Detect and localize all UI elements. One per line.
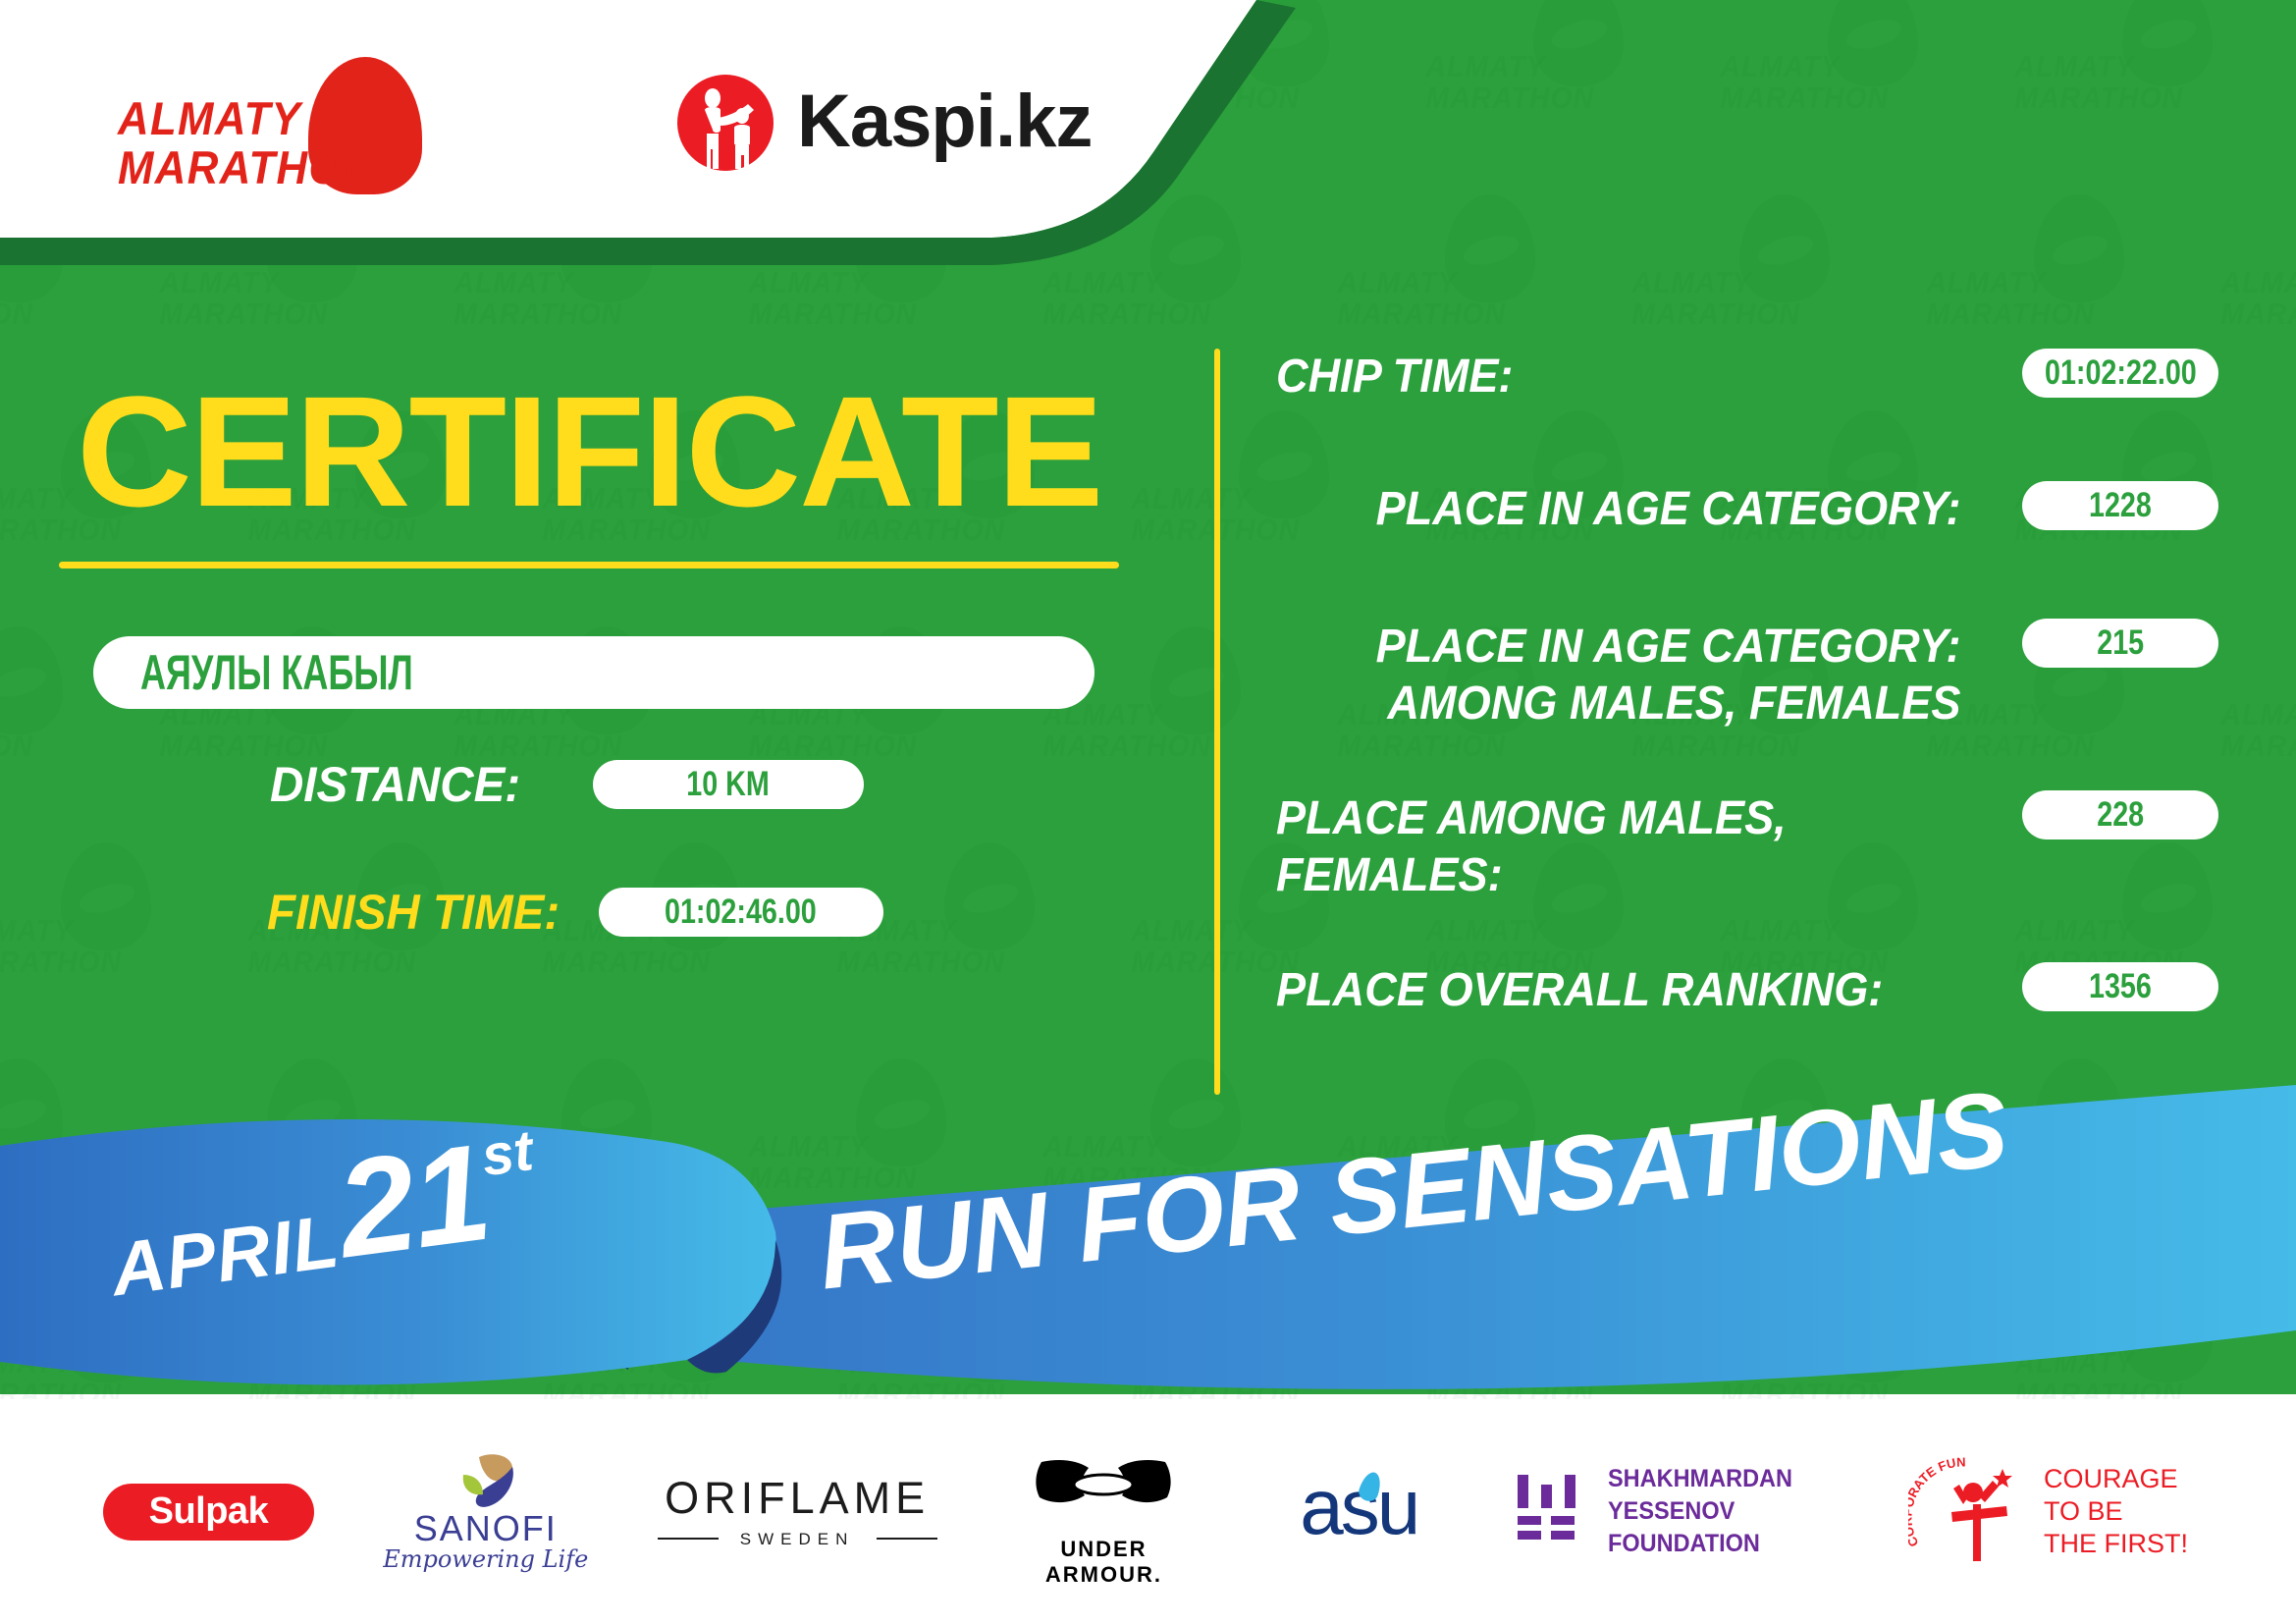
chip-time-label: CHIP TIME:	[1276, 349, 1960, 406]
watermark-tile: ALMATYMARATHON	[2209, 177, 2296, 393]
watermark-tile: ALMATYMARATHON	[0, 825, 236, 1041]
yessenov-mark-icon	[1516, 1473, 1586, 1551]
courage-line3: THE FIRST!	[2044, 1529, 2188, 1558]
yessenov-line1: SHAKHMARDAN YESSENOV	[1608, 1465, 1792, 1525]
finish-time-value: 01:02:46.00	[665, 893, 817, 932]
page-title: CERTIFICATE	[77, 373, 1101, 530]
yessenov-logo: SHAKHMARDAN YESSENOV FOUNDATION	[1516, 1463, 1840, 1561]
sulpak-logo: Sulpak	[103, 1484, 314, 1541]
distance-label: DISTANCE:	[270, 756, 520, 813]
place-gender-value: 228	[2097, 795, 2144, 835]
sponsor-sulpak: Sulpak	[103, 1484, 314, 1541]
sponsor-under-armour: UNDER ARMOUR.	[1005, 1458, 1201, 1566]
yessenov-line2: FOUNDATION	[1608, 1530, 1760, 1557]
courage-mark-icon: CORPORATE FUND	[1908, 1455, 2036, 1568]
asu-wordmark: asu	[1270, 1468, 1447, 1546]
finish-time-value-pill: 01:02:46.00	[599, 888, 883, 937]
kaspi-logo: Kaspi.kz	[677, 67, 1090, 175]
place-gender-label-line1: PLACE AMONG MALES,	[1276, 792, 1787, 844]
under-armour-logo: UNDER ARMOUR.	[1005, 1458, 1201, 1566]
place-gender-value-pill: 228	[2022, 790, 2218, 839]
courage-logo: CORPORATE FUND COURAGE TO BE THE FIRST!	[1908, 1455, 2193, 1568]
kaspi-wordmark: Kaspi.kz	[797, 79, 1092, 164]
overall-ranking-value: 1356	[2089, 967, 2152, 1006]
age-category-gender-label: PLACE IN AGE CATEGORY: AMONG MALES, FEMA…	[1276, 619, 1960, 732]
certificate-canvas: ALMATYMARATHONALMATYMARATHONALMATYMARATH…	[0, 0, 2296, 1624]
courage-line2: TO BE	[2044, 1496, 2123, 1526]
finish-time-row: FINISH TIME: 01:02:46.00	[267, 884, 883, 941]
oriflame-subtitle: SWEDEN	[658, 1530, 937, 1549]
sanofi-wordmark: SANOFI	[383, 1508, 589, 1549]
watermark-text: ALMATYMARATHON	[1042, 699, 1232, 762]
sponsor-sanofi: SANOFI Empowering Life	[383, 1453, 589, 1571]
watermark-text: ALMATYMARATHON	[2014, 51, 2204, 114]
result-row-place-gender: PLACE AMONG MALES, FEMALES: 228	[1276, 790, 2218, 904]
event-ribbon: APRIL 21st RUN FOR SENSATIONS	[0, 1085, 2296, 1389]
age-category-value-pill: 1228	[2022, 481, 2218, 530]
watermark-text: ALMATYMARATHON	[1631, 267, 1821, 330]
distance-row: DISTANCE: 10 KM	[270, 756, 864, 813]
result-row-age-category-gender: PLACE IN AGE CATEGORY: AMONG MALES, FEMA…	[1276, 619, 2218, 732]
age-category-gender-label-line1: PLACE IN AGE CATEGORY:	[1376, 621, 1961, 673]
chip-time-value: 01:02:22.00	[2045, 353, 2197, 393]
watermark-tile: ALMATYMARATHON	[1414, 0, 1708, 177]
participant-name-field: АЯУЛЫ КАБЫЛ	[93, 636, 1095, 709]
watermark-text: ALMATYMARATHON	[2220, 699, 2296, 762]
distance-value: 10 KM	[686, 765, 770, 804]
oriflame-logo: ORIFLAME SWEDEN	[658, 1473, 937, 1551]
result-row-overall: PLACE OVERALL RANKING: 1356	[1276, 962, 2218, 1019]
oriflame-wordmark: ORIFLAME	[658, 1473, 937, 1524]
watermark-text: ALMATYMARATHON	[1425, 51, 1615, 114]
watermark-tile: ALMATYMARATHON	[2002, 0, 2296, 177]
participant-name-value: АЯУЛЫ КАБЫЛ	[140, 644, 413, 701]
result-row-age-category: PLACE IN AGE CATEGORY: 1228	[1276, 481, 2218, 538]
sanofi-mark-icon	[450, 1453, 518, 1508]
watermark-text: ALMATYMARATHON	[1926, 267, 2115, 330]
sanofi-logo: SANOFI Empowering Life	[383, 1453, 589, 1571]
event-day-ordinal: st	[478, 1118, 537, 1188]
watermark-tile: ALMATYMARATHON	[2209, 609, 2296, 825]
event-day: 21	[329, 1114, 497, 1286]
watermark-text: ALMATYMARATHON	[2220, 267, 2296, 330]
place-gender-label-line2: FEMALES:	[1276, 849, 1503, 901]
age-category-gender-value-pill: 215	[2022, 619, 2218, 668]
age-category-gender-value: 215	[2097, 623, 2144, 663]
svg-text:CORPORATE FUND: CORPORATE FUND	[1908, 1455, 1966, 1549]
result-row-chip-time: CHIP TIME: 01:02:22.00	[1276, 349, 2218, 406]
under-armour-wordmark: UNDER ARMOUR.	[1005, 1537, 1201, 1588]
almaty-line2: MARATHON	[118, 141, 376, 193]
watermark-text: ALMATYMARATHON	[1337, 267, 1526, 330]
age-category-label: PLACE IN AGE CATEGORY:	[1276, 481, 1960, 538]
header-panel: ALMATY MARATHON Kaspi.kz	[0, 0, 1306, 287]
under-armour-mark-icon	[1030, 1458, 1177, 1532]
sponsor-oriflame: ORIFLAME SWEDEN	[658, 1473, 937, 1551]
watermark-text: ALMATYMARATHON	[0, 699, 55, 762]
overall-ranking-value-pill: 1356	[2022, 962, 2218, 1011]
overall-ranking-label: PLACE OVERALL RANKING:	[1276, 962, 1960, 1019]
place-gender-label: PLACE AMONG MALES, FEMALES:	[1276, 790, 1960, 904]
title-divider	[59, 562, 1119, 568]
finish-time-label: FINISH TIME:	[267, 884, 560, 941]
almaty-marathon-logo: ALMATY MARATHON	[118, 57, 442, 214]
yessenov-wordmark: SHAKHMARDAN YESSENOV FOUNDATION	[1608, 1463, 1826, 1560]
courage-wordmark: COURAGE TO BE THE FIRST!	[2044, 1463, 2188, 1560]
sponsor-bar: Sulpak SANOFI Empowering Life ORIFLAME S…	[0, 1399, 2296, 1624]
sponsor-asu: asu	[1270, 1468, 1447, 1556]
asu-logo: asu	[1270, 1468, 1447, 1556]
almaty-line1: ALMATY	[118, 92, 301, 144]
watermark-tile: ALMATYMARATHON	[1708, 0, 2002, 177]
kaspi-people-glyph	[677, 75, 774, 171]
courage-line1: COURAGE	[2044, 1464, 2178, 1493]
sponsor-courage: CORPORATE FUND COURAGE TO BE THE FIRST!	[1908, 1455, 2193, 1568]
distance-value-pill: 10 KM	[593, 760, 864, 809]
age-category-value: 1228	[2089, 486, 2152, 525]
sponsor-yessenov: SHAKHMARDAN YESSENOV FOUNDATION	[1516, 1463, 1840, 1561]
almaty-marathon-wordmark: ALMATY MARATHON	[118, 94, 376, 192]
chip-time-value-pill: 01:02:22.00	[2022, 349, 2218, 398]
column-divider	[1214, 349, 1220, 1095]
oriflame-rule-right	[877, 1538, 937, 1540]
watermark-text: ALMATYMARATHON	[0, 915, 143, 978]
sanofi-tagline: Empowering Life	[383, 1545, 589, 1573]
watermark-text: ALMATYMARATHON	[1720, 51, 1909, 114]
age-category-gender-label-line2: AMONG MALES, FEMALES	[1387, 677, 1960, 730]
